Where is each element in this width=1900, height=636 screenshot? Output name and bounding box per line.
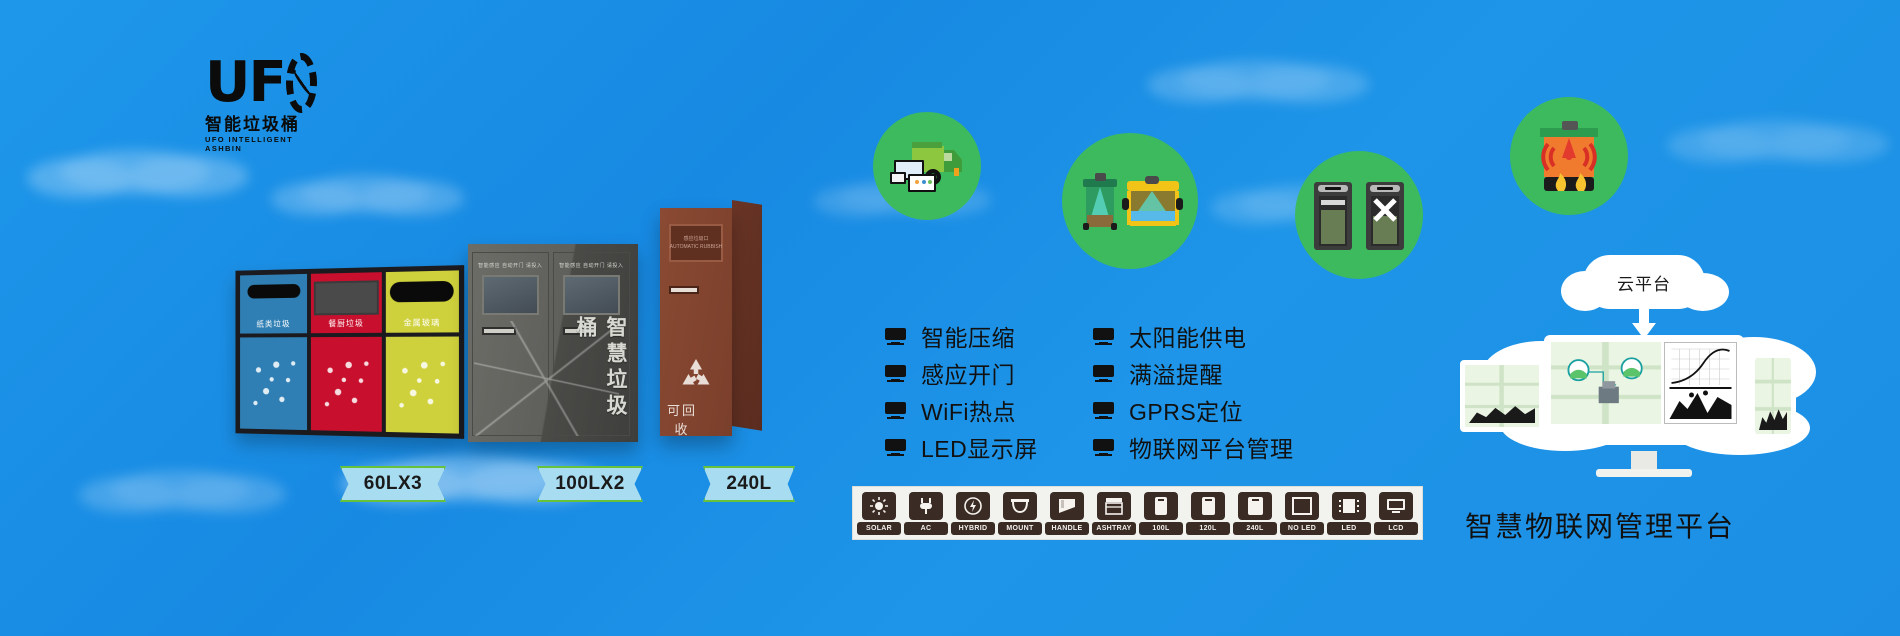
bin-120l-icon: [1191, 492, 1225, 520]
capacity-ribbon-100lx2: 100LX2: [537, 466, 643, 502]
spec-label: 100L: [1139, 522, 1183, 535]
capacity-ribbon-60lx3: 60LX3: [340, 466, 446, 502]
card-reader-icon: [669, 286, 699, 294]
monitor-bullet-icon: [1093, 328, 1114, 345]
spec-item-mount: MOUNT: [998, 492, 1042, 535]
monitor-bullet-icon: [1093, 439, 1114, 456]
compartment-label: 金属玻璃: [403, 317, 440, 329]
spec-item-ac: AC: [904, 492, 948, 535]
logo-wordmark: UF: [205, 56, 285, 110]
map-view: [1551, 342, 1661, 424]
recycle-label: 可回收: [662, 400, 702, 438]
spec-label: ASHTRAY: [1092, 522, 1136, 535]
spec-label: SOLAR: [857, 522, 901, 535]
logo-english-name: UFO INTELLIGENT ASHBIN: [205, 135, 317, 153]
monitor-bullet-icon: [885, 328, 906, 345]
litter-graphic: [248, 350, 299, 417]
monitor-bullet-icon: [885, 365, 906, 382]
spec-item-hybrid: HYBRID: [951, 492, 995, 535]
feature-list-right: 太阳能供电 满溢提醒 GPRS定位 物联网平台管理: [1093, 320, 1294, 468]
cloud-decoration: [300, 175, 430, 213]
capacity-ribbon-240l: 240L: [703, 466, 795, 502]
fire-alarm-icon: [1510, 97, 1628, 215]
feature-label: LED显示屏: [921, 430, 1038, 464]
spec-label: LCD: [1374, 522, 1418, 535]
feature-item: 满溢提醒: [1093, 357, 1294, 389]
bin-compartment: 金属玻璃: [386, 270, 459, 433]
compaction-mechanism-icon: [1295, 151, 1423, 279]
monitor-stand: [1631, 451, 1657, 471]
feature-item: WiFi热点: [885, 394, 1038, 426]
bin-side-panel: [732, 200, 762, 431]
spec-item-led: LED: [1327, 492, 1371, 535]
feature-label: 智能压缩: [921, 319, 1015, 353]
litter-graphic: [394, 350, 450, 420]
feature-label: 物联网平台管理: [1129, 430, 1294, 464]
monitor-bullet-icon: [1093, 365, 1114, 382]
grey-double-bin: 智能感应 自动开门 请投入 智能感应 自动开门 请投入 智慧垃圾桶: [468, 244, 638, 442]
bin-vertical-text: 智慧垃圾桶: [570, 316, 630, 442]
cloud-decoration: [1700, 120, 1850, 160]
led-screen-icon: [1332, 492, 1366, 520]
bin-240l-icon: [1238, 492, 1272, 520]
desktop-monitor: [1544, 335, 1744, 445]
smartphone-device: [1750, 353, 1796, 439]
display-window: [482, 275, 539, 315]
power-plug-icon: [909, 492, 943, 520]
spec-item-ashtray: ASHTRAY: [1092, 492, 1136, 535]
bearing-ring-o-icon: [286, 53, 317, 113]
collection-truck-and-devices-icon: [873, 112, 981, 220]
cloud-decoration: [60, 150, 210, 194]
feature-item: GPRS定位: [1093, 394, 1294, 426]
fill-level-sensor-icon: [1062, 133, 1198, 269]
spec-label: NO LED: [1280, 522, 1324, 535]
compartment-label: 纸类垃圾: [256, 319, 290, 330]
feature-label: GPRS定位: [1129, 393, 1243, 427]
tri-colour-bin: 纸类垃圾 餐厨垃圾 金属玻璃: [230, 268, 462, 436]
cloud-platform-label: 云平台: [1583, 255, 1705, 309]
cloud-decoration: [1180, 60, 1330, 100]
monitor-bullet-icon: [1093, 402, 1114, 419]
cloud-decoration: [110, 470, 250, 510]
analytics-chart: [1664, 342, 1737, 424]
spec-item-lcd: LCD: [1374, 492, 1418, 535]
window-text-en: AUTOMATIC RUBBISH: [670, 244, 723, 250]
monitor-base: [1596, 469, 1692, 477]
ashtray-icon: [1097, 492, 1131, 520]
spec-label: HYBRID: [951, 522, 995, 535]
litter-graphic: [319, 350, 372, 418]
feature-label: 感应开门: [921, 356, 1015, 390]
monitor-bullet-icon: [885, 402, 906, 419]
spec-label: 120L: [1186, 522, 1230, 535]
feature-list-left: 智能压缩 感应开门 WiFi热点 LED显示屏: [885, 320, 1038, 468]
platform-caption: 智慧物联网管理平台: [1465, 505, 1735, 545]
logo-chinese-name: 智能垃圾桶: [205, 115, 317, 134]
spec-option-strip: SOLAR AC HYBRID MOUNT HANDLE: [852, 486, 1423, 540]
spec-item-solar: SOLAR: [857, 492, 901, 535]
cloud-platform-text: 云平台: [1617, 270, 1671, 295]
spec-label: HANDLE: [1045, 522, 1089, 535]
ufo-logo: UF 智能垃圾桶 UFO INTELLIGENT ASHBIN: [205, 52, 317, 148]
bin-100l-icon: [1144, 492, 1178, 520]
lcd-screen-icon: [1379, 492, 1413, 520]
spec-item-handle: HANDLE: [1045, 492, 1089, 535]
door-label: 智能感应 自动开门 请投入: [559, 262, 623, 269]
iot-platform-illustration: 云平台: [1460, 255, 1830, 465]
display-screen: [314, 280, 379, 315]
feature-label: WiFi热点: [921, 393, 1016, 427]
no-led-icon: [1285, 492, 1319, 520]
feature-label: 满溢提醒: [1129, 356, 1223, 390]
handle-icon: [1050, 492, 1084, 520]
spec-label: MOUNT: [998, 522, 1042, 535]
window-text-cn: 感应垃圾口: [683, 236, 708, 242]
hybrid-power-icon: [956, 492, 990, 520]
display-window: 感应垃圾口 AUTOMATIC RUBBISH: [669, 224, 724, 262]
spec-item-no-led: NO LED: [1280, 492, 1324, 535]
waste-slot-icon: [390, 281, 454, 303]
product-banner: UF 智能垃圾桶 UFO INTELLIGENT ASHBIN 纸类垃圾 餐厨垃…: [0, 0, 1900, 636]
spec-label: AC: [904, 522, 948, 535]
waste-slot-icon: [247, 284, 300, 299]
feature-item: 感应开门: [885, 357, 1038, 389]
compartment-label: 餐厨垃圾: [328, 318, 363, 329]
spec-label: LED: [1327, 522, 1371, 535]
door-label: 智能感应 自动开门 请投入: [478, 262, 542, 269]
spec-item-120l: 120L: [1186, 492, 1230, 535]
feature-item: 太阳能供电: [1093, 320, 1294, 352]
recycle-icon: [677, 356, 715, 392]
bin-front-panel: 感应垃圾口 AUTOMATIC RUBBISH 可回收: [660, 208, 732, 436]
display-window: [563, 275, 620, 315]
sun-icon: [862, 492, 896, 520]
feature-item: 物联网平台管理: [1093, 431, 1294, 463]
feature-item: 智能压缩: [885, 320, 1038, 352]
monitor-bullet-icon: [885, 439, 906, 456]
spec-item-100l: 100L: [1139, 492, 1183, 535]
spec-label: 240L: [1233, 522, 1277, 535]
bin-compartment: 纸类垃圾: [240, 274, 307, 430]
brown-single-bin: 感应垃圾口 AUTOMATIC RUBBISH 可回收: [660, 200, 760, 436]
tablet-device: [1460, 360, 1544, 432]
feature-label: 太阳能供电: [1129, 319, 1247, 353]
bin-compartment: 餐厨垃圾: [311, 272, 381, 432]
feature-item: LED显示屏: [885, 431, 1038, 463]
wall-mount-icon: [1003, 492, 1037, 520]
spec-item-240l: 240L: [1233, 492, 1277, 535]
